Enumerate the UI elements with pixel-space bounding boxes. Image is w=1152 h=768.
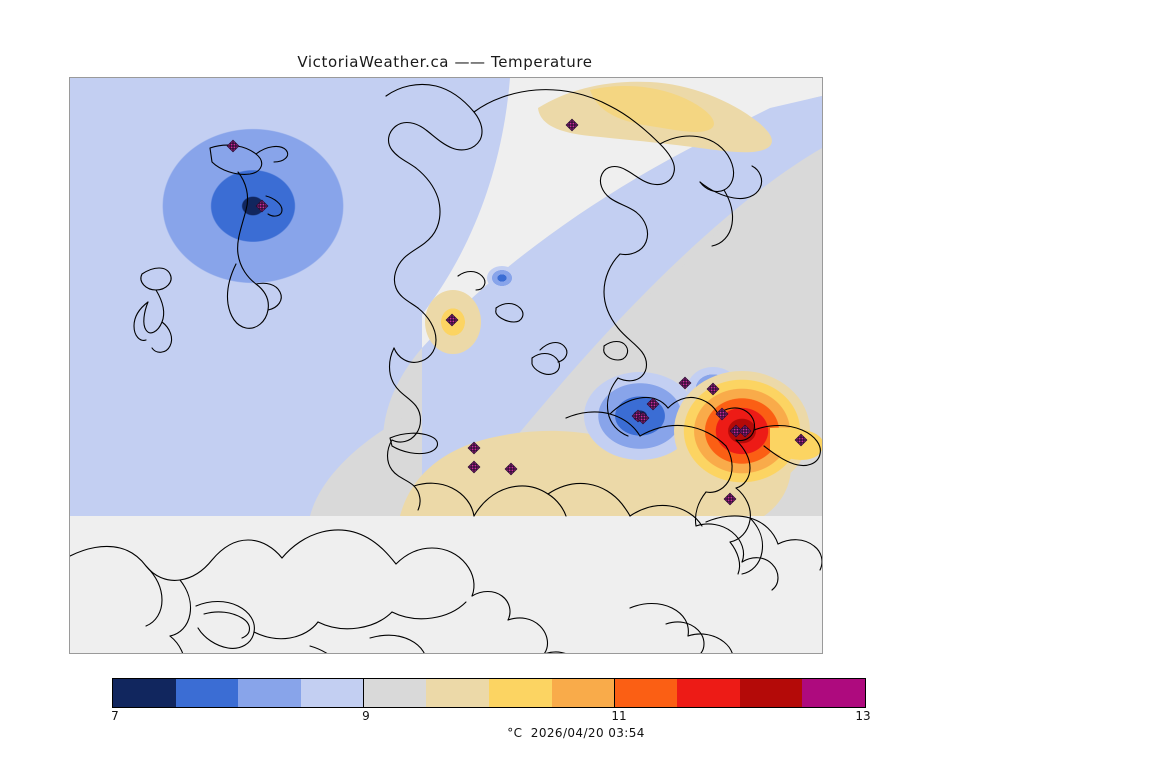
colorbar-swatch-8: [614, 679, 677, 707]
colorbar-swatch-2: [238, 679, 301, 707]
colorbar-tick-line: [363, 678, 364, 708]
colorbar-tick-label: 13: [855, 709, 870, 723]
weather-map-page: VictoriaWeather.ca —— Temperature: [0, 0, 1152, 768]
colorbar-swatch-6: [489, 679, 552, 707]
colorbar-tick-line: [112, 678, 113, 708]
temperature-contour-map: [70, 78, 822, 653]
colorbar-caption: °C 2026/04/20 03:54: [0, 726, 1152, 740]
colorbar-tick-line: [865, 678, 866, 708]
colorbar-tick-line: [614, 678, 615, 708]
colorbar-swatch-7: [552, 679, 615, 707]
colorbar-swatch-10: [740, 679, 803, 707]
contour-fill-layer: [70, 78, 822, 516]
colorbar-swatch-3: [301, 679, 364, 707]
colorbar-swatches[interactable]: [112, 678, 866, 708]
colorbar-tick-label: 9: [362, 709, 370, 723]
colorbar-swatch-4: [364, 679, 427, 707]
page-title: VictoriaWeather.ca —— Temperature: [0, 53, 890, 71]
colorbar-swatch-0: [113, 679, 176, 707]
colorbar-swatch-5: [426, 679, 489, 707]
map-canvas[interactable]: [69, 77, 823, 654]
colorbar-swatch-9: [677, 679, 740, 707]
colorbar-swatch-1: [176, 679, 239, 707]
colorbar: 7 9 11 13: [112, 678, 866, 708]
colorbar-tick-label: 11: [611, 709, 626, 723]
colorbar-tick-label: 7: [111, 709, 119, 723]
colorbar-swatch-11: [802, 679, 865, 707]
